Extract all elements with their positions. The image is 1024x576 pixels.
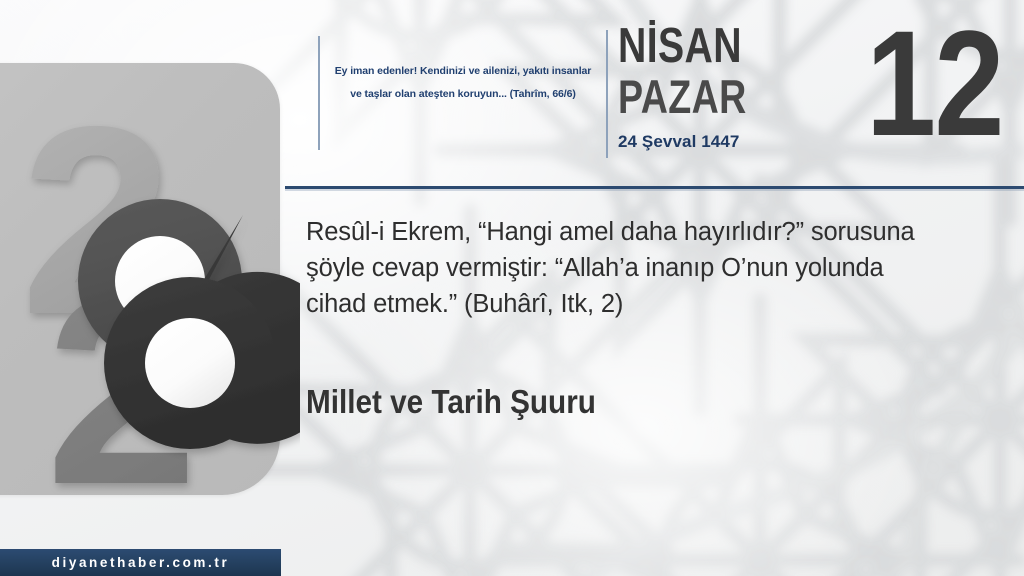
hijri-date: 24 Şevval 1447	[618, 132, 868, 152]
divider-horizontal-shadow	[285, 189, 1024, 191]
year-logo-2026: 2 2	[0, 63, 300, 495]
section-title: Millet ve Tarih Şuuru	[306, 383, 596, 421]
divider-vertical-right	[606, 30, 608, 158]
divider-vertical-left	[318, 36, 320, 150]
website-url[interactable]: diyanethaber.com.tr	[52, 555, 230, 570]
verse-line-2: ve taşlar olan ateşten koruyun... (Tahrî…	[322, 83, 604, 106]
weekday-label: PAZAR	[618, 74, 818, 120]
quran-verse: Ey iman edenler! Kendinizi ve ailenizi, …	[322, 60, 604, 105]
date-block: NİSAN PAZAR 24 Şevval 1447	[618, 22, 868, 152]
month-label: NİSAN	[618, 22, 818, 70]
footer-bar: diyanethaber.com.tr	[0, 549, 281, 576]
day-number: 12	[866, 8, 1003, 158]
calendar-page: 2 2 Ey iman edenler! Kendinizi ve aileni…	[0, 0, 1024, 576]
verse-line-1: Ey iman edenler! Kendinizi ve ailenizi, …	[322, 60, 604, 83]
hadith-text: Resûl-i Ekrem, “Hangi amel daha hayırlıd…	[306, 214, 946, 323]
